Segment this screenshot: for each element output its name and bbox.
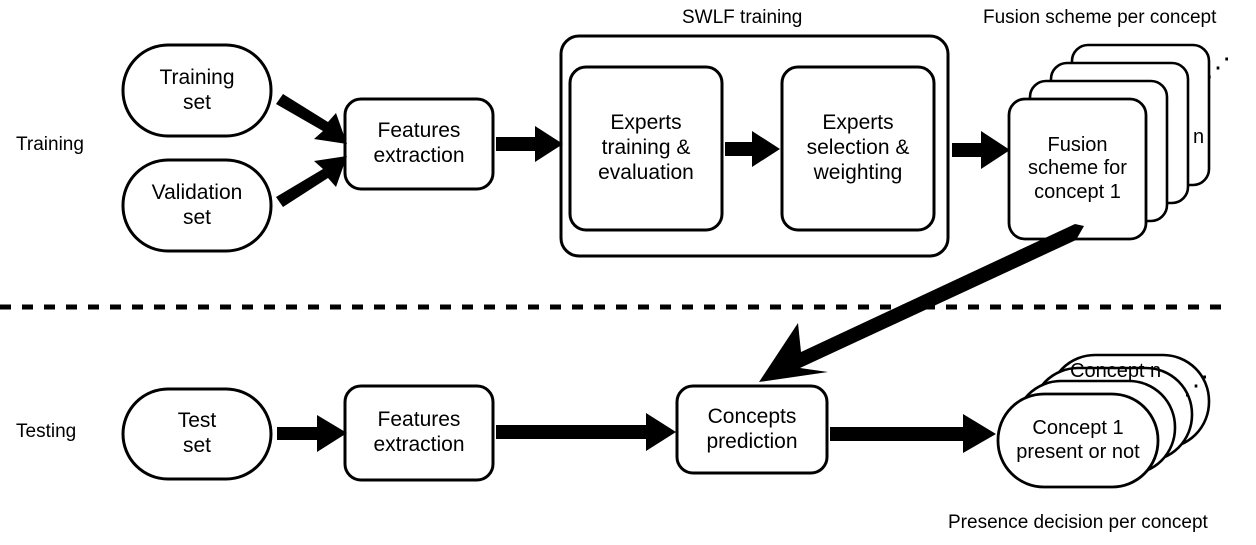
fusion-scheme-card-1-shape [1009, 99, 1146, 239]
group-title-fusion-scheme: Fusion scheme per concept [983, 7, 1216, 29]
features-extraction-training-shape [345, 99, 493, 189]
phase-label-testing: Testing [16, 421, 76, 443]
concept-decision-ellipsis-icon: ⋰ [1183, 370, 1210, 401]
experts-selection-weighting-shape [782, 67, 934, 230]
arrow-validation-set-to-features [276, 156, 347, 207]
fusion-scheme-count-label: n [1193, 126, 1204, 149]
phase-label-training: Training [16, 134, 84, 156]
features-extraction-testing-shape [345, 386, 493, 480]
experts-training-evaluation-shape [570, 67, 722, 230]
arrow-features-to-swlf [496, 126, 563, 162]
arrow-concepts-prediction-to-concepts [830, 414, 996, 453]
validation-set-shape [123, 160, 271, 251]
training-set-shape [123, 45, 271, 136]
concept-decision-card-4-label: Concept n [1070, 360, 1161, 383]
concepts-prediction-shape [677, 386, 827, 473]
group-title-swlf-training: SWLF training [682, 7, 802, 29]
test-set-shape [123, 389, 271, 479]
arrow-test-set-to-features [277, 415, 347, 452]
arrow-training-set-to-features [276, 94, 347, 144]
arrow-features-to-concepts-prediction [496, 413, 676, 451]
diagram-shapes-layer [0, 0, 1256, 545]
caption-presence-decision: Presence decision per concept [948, 512, 1208, 534]
fusion-scheme-ellipsis-icon: ⋰ [1205, 52, 1232, 83]
arrow-swlf-to-fusion [952, 131, 1010, 169]
concept-decision-card-1-shape [998, 394, 1158, 487]
diagram-canvas: Training Testing SWLF training Fusion sc… [0, 0, 1256, 545]
